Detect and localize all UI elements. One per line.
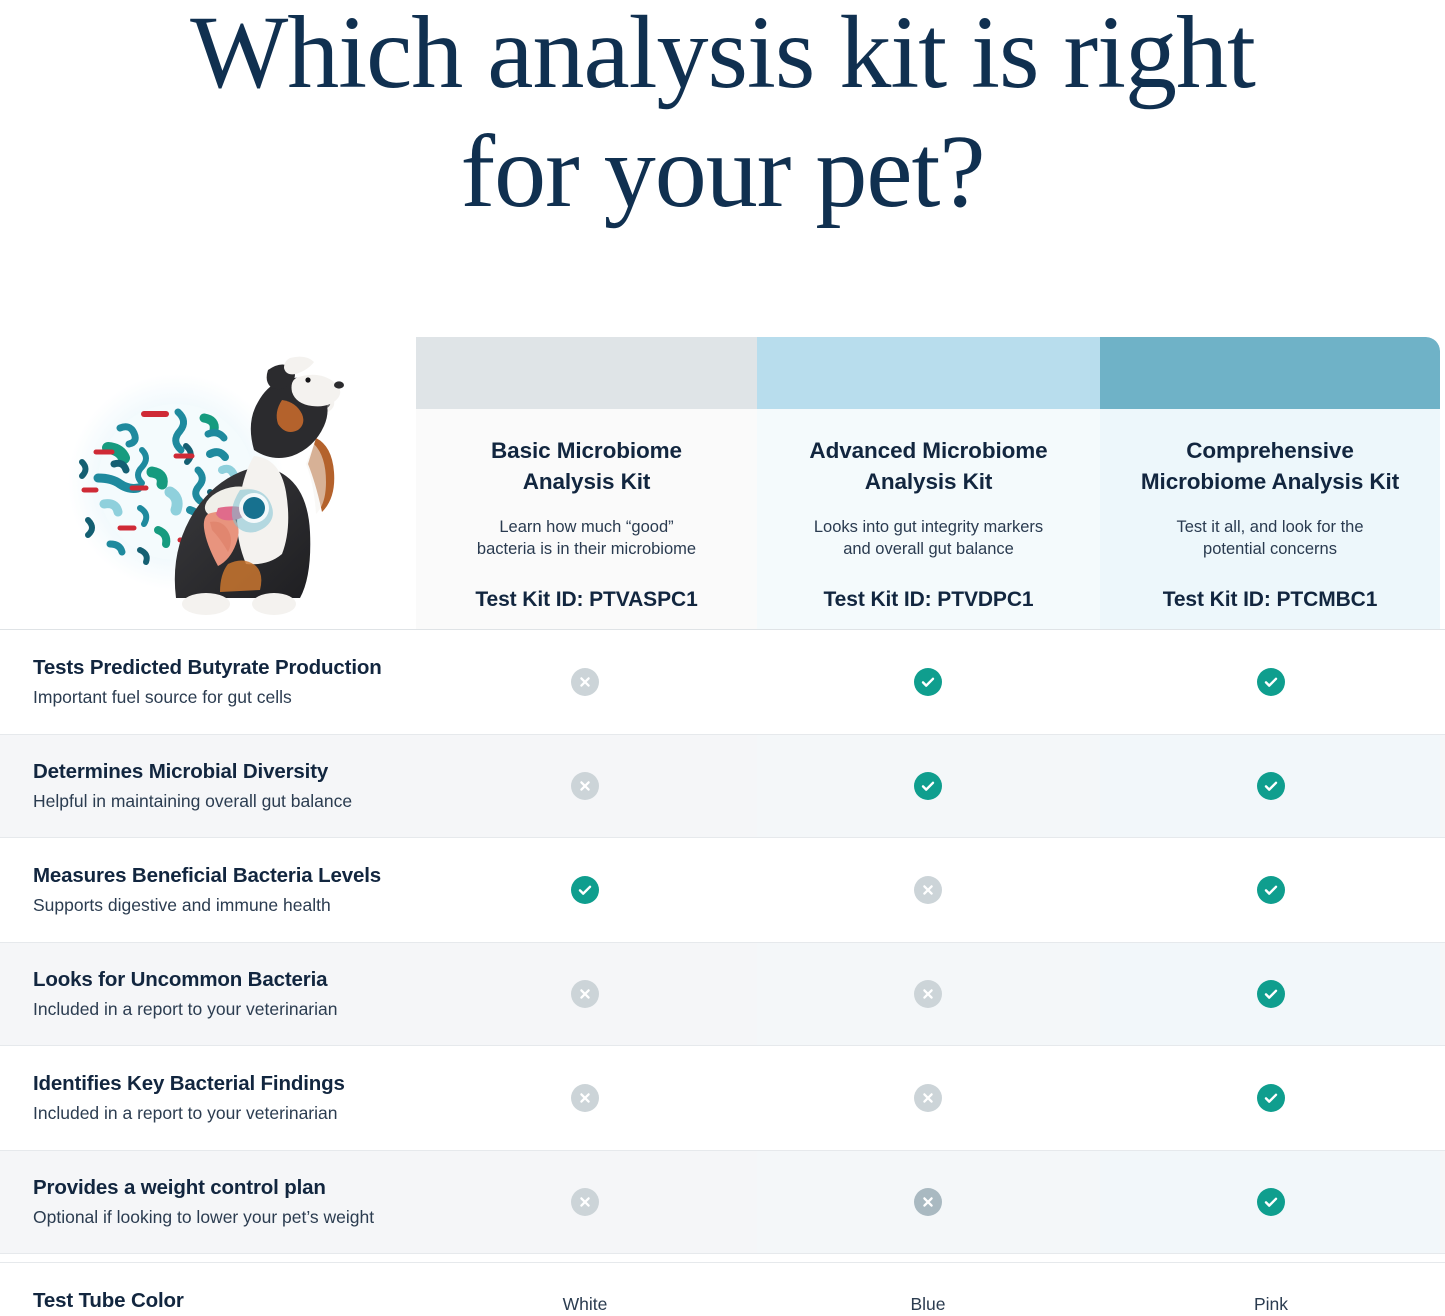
feature-label: Identifies Key Bacterial FindingsInclude… (33, 1046, 408, 1150)
kit-name-advanced: Advanced Microbiome Analysis Kit (781, 435, 1076, 497)
column-header-basic[interactable]: Basic Microbiome Analysis Kit Learn how … (416, 337, 757, 629)
column-body-comprehensive: Comprehensive Microbiome Analysis Kit Te… (1100, 409, 1440, 629)
x-circle-icon (914, 876, 942, 904)
table-row: Tests Predicted Butyrate ProductionImpor… (0, 630, 1445, 734)
x-circle-icon (914, 980, 942, 1008)
check-circle-icon (1257, 980, 1285, 1008)
feature-title: Provides a weight control plan (33, 1176, 408, 1201)
x-circle-icon (914, 1188, 942, 1216)
feature-title: Looks for Uncommon Bacteria (33, 968, 408, 993)
column-header-advanced[interactable]: Advanced Microbiome Analysis Kit Looks i… (757, 337, 1100, 629)
feature-subtitle: Included in a report to your veterinaria… (33, 999, 408, 1020)
feature-subtitle: Supports digestive and immune health (33, 895, 408, 916)
column-header-comprehensive[interactable]: Comprehensive Microbiome Analysis Kit Te… (1100, 337, 1440, 629)
feature-subtitle: Included in a report to your veterinaria… (33, 1103, 408, 1124)
feature-subtitle: Optional if looking to lower your pet’s … (33, 1207, 408, 1228)
test-tube-color-basic: White (505, 1294, 665, 1315)
kit-name-comprehensive: Comprehensive Microbiome Analysis Kit (1124, 435, 1416, 497)
table-row: Identifies Key Bacterial FindingsInclude… (0, 1046, 1445, 1150)
kit-id-comprehensive: Test Kit ID: PTCMBC1 (1124, 588, 1416, 612)
check-circle-icon (914, 668, 942, 696)
check-circle-icon (1257, 772, 1285, 800)
row-divider (0, 1262, 1445, 1263)
check-circle-icon (914, 772, 942, 800)
table-row: Measures Beneficial Bacteria LevelsSuppo… (0, 838, 1445, 942)
feature-rows: Tests Predicted Butyrate ProductionImpor… (0, 630, 1445, 1254)
table-row: Provides a weight control planOptional i… (0, 1150, 1445, 1254)
kit-desc-advanced: Looks into gut integrity markers and ove… (781, 517, 1076, 561)
x-circle-icon (571, 1084, 599, 1112)
kit-desc-basic: Learn how much “good” bacteria is in the… (440, 517, 733, 561)
column-band-comprehensive (1100, 337, 1440, 409)
check-circle-icon (1257, 668, 1285, 696)
test-tube-color-comprehensive: Pink (1191, 1294, 1351, 1315)
page-title: Which analysis kit is right for your pet… (0, 0, 1445, 231)
page-title-line-1: Which analysis kit is right (0, 0, 1445, 113)
test-tube-color-advanced: Blue (848, 1294, 1008, 1315)
feature-label: Measures Beneficial Bacteria LevelsSuppo… (33, 838, 408, 942)
comparison-table: Basic Microbiome Analysis Kit Learn how … (0, 337, 1445, 629)
kit-name-basic: Basic Microbiome Analysis Kit (440, 435, 733, 497)
table-row: Looks for Uncommon BacteriaIncluded in a… (0, 942, 1445, 1046)
check-circle-icon (1257, 1188, 1285, 1216)
check-circle-icon (571, 876, 599, 904)
x-circle-icon (571, 1188, 599, 1216)
column-body-advanced: Advanced Microbiome Analysis Kit Looks i… (757, 409, 1100, 629)
x-circle-icon (571, 980, 599, 1008)
feature-label: Determines Microbial DiversityHelpful in… (33, 735, 408, 837)
comparison-page: Which analysis kit is right for your pet… (0, 0, 1445, 1316)
column-band-basic (416, 337, 757, 409)
check-circle-icon (1257, 1084, 1285, 1112)
feature-subtitle: Important fuel source for gut cells (33, 687, 408, 708)
test-tube-color-row: Test Tube Color White Blue Pink (0, 1272, 1445, 1316)
table-row: Determines Microbial DiversityHelpful in… (0, 734, 1445, 838)
kit-id-basic: Test Kit ID: PTVASPC1 (440, 588, 733, 612)
test-tube-color-label: Test Tube Color (33, 1289, 184, 1313)
feature-subtitle: Helpful in maintaining overall gut balan… (33, 791, 408, 812)
feature-title: Tests Predicted Butyrate Production (33, 656, 408, 681)
check-circle-icon (1257, 876, 1285, 904)
feature-label: Provides a weight control planOptional i… (33, 1151, 408, 1253)
x-circle-icon (914, 1084, 942, 1112)
x-circle-icon (571, 668, 599, 696)
x-circle-icon (571, 772, 599, 800)
kit-desc-comprehensive: Test it all, and look for the potential … (1124, 517, 1416, 561)
page-title-line-2: for your pet? (0, 113, 1445, 232)
column-band-advanced (757, 337, 1100, 409)
feature-title: Determines Microbial Diversity (33, 760, 408, 785)
feature-title: Identifies Key Bacterial Findings (33, 1072, 408, 1097)
feature-label: Tests Predicted Butyrate ProductionImpor… (33, 630, 408, 734)
feature-title: Measures Beneficial Bacteria Levels (33, 864, 408, 889)
kit-id-advanced: Test Kit ID: PTVDPC1 (781, 588, 1076, 612)
column-body-basic: Basic Microbiome Analysis Kit Learn how … (416, 409, 757, 629)
table-header-row: Basic Microbiome Analysis Kit Learn how … (0, 337, 1445, 629)
feature-label: Looks for Uncommon BacteriaIncluded in a… (33, 943, 408, 1045)
